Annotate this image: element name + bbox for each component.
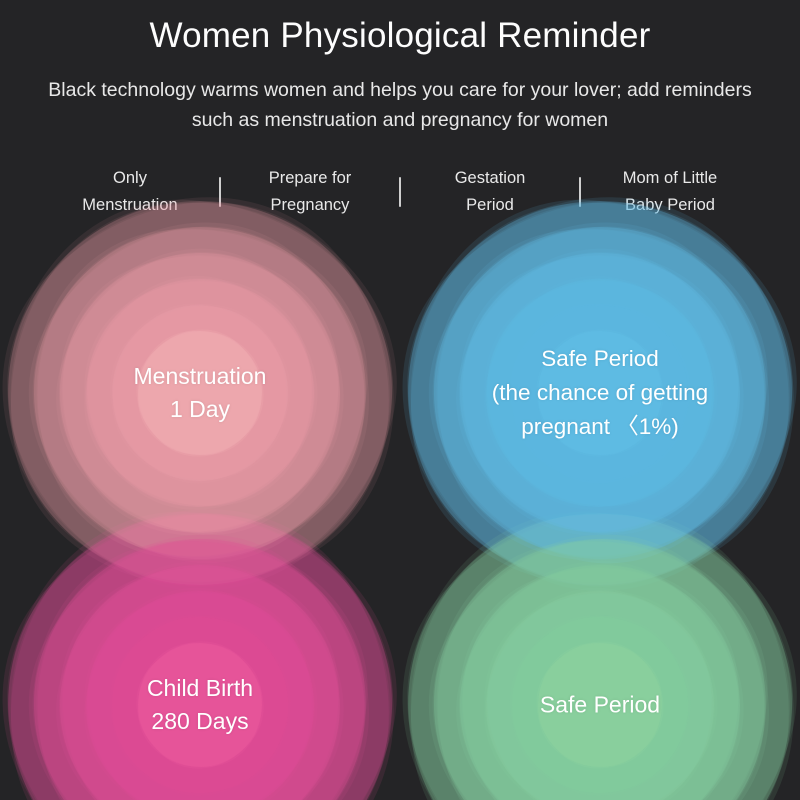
- tab-divider-2: [399, 177, 401, 207]
- blob-cell-child-birth[interactable]: Child Birth 280 Days: [0, 555, 400, 800]
- header: Women Physiological Reminder Black techn…: [0, 0, 800, 135]
- page-subtitle: Black technology warms women and helps y…: [30, 75, 770, 135]
- blob-cell-safe-period-baby[interactable]: Safe Period: [400, 555, 800, 800]
- blob-label-safe-period-baby: Safe Period: [430, 689, 770, 722]
- blob-grid: Menstruation 1 Day Safe Period (the chan…: [0, 243, 800, 800]
- page-title: Women Physiological Reminder: [0, 14, 800, 58]
- blob-cell-safe-period-gestation[interactable]: Safe Period (the chance of getting pregn…: [400, 243, 800, 543]
- page-root: Women Physiological Reminder Black techn…: [0, 0, 800, 800]
- blob-label-safe-period-gestation: Safe Period (the chance of getting pregn…: [420, 342, 780, 444]
- blob-label-child-birth: Child Birth 280 Days: [30, 672, 370, 738]
- blob-label-menstruation: Menstruation 1 Day: [30, 360, 370, 426]
- blob-cell-menstruation[interactable]: Menstruation 1 Day: [0, 243, 400, 543]
